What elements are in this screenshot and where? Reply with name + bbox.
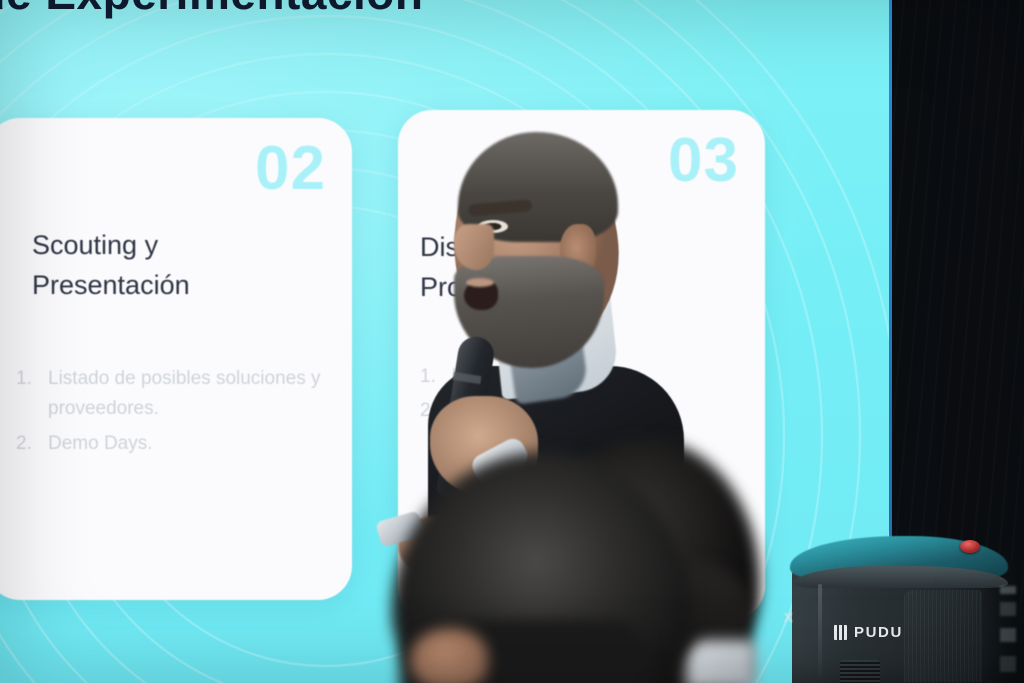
card-heading: Scouting y Presentación — [32, 226, 322, 306]
list-item: 1. Listado de posibles soluciones y prov… — [16, 364, 328, 425]
robot-side-panel — [904, 590, 982, 682]
list-item-number: 1. — [16, 364, 34, 425]
robot-side-label: X — [784, 610, 814, 625]
list-item-number: 2. — [16, 429, 34, 459]
list-item: 2. Demo Days. — [16, 429, 328, 459]
list-item-text: Listado de posibles soluciones y proveed… — [48, 364, 328, 425]
audience-collar-right — [686, 640, 756, 683]
speaker-upper-lip — [466, 278, 494, 287]
robot-body-seam — [818, 584, 822, 683]
card-number: 02 — [255, 138, 326, 200]
list-item-text: Demo Days. — [48, 429, 328, 459]
pudu-service-robot: X PUDU — [782, 528, 1024, 683]
robot-side-markings — [1000, 586, 1016, 672]
audience-face-left — [410, 628, 488, 683]
robot-emergency-stop-button[interactable] — [960, 540, 980, 553]
robot-speaker-grille — [840, 660, 880, 683]
pudu-logo-mark-icon — [834, 625, 847, 640]
robot-brand-name: PUDU — [854, 624, 903, 641]
card-list: 1. Listado de posibles soluciones y prov… — [16, 364, 328, 463]
slide-title: a de Experimentación — [0, 0, 424, 20]
slide-card-02: 02 Scouting y Presentación 1. Listado de… — [0, 118, 352, 600]
conference-stage-photo: a de Experimentación 02 Scouting y Prese… — [0, 0, 1024, 683]
robot-brand-logo: PUDU — [834, 624, 903, 641]
